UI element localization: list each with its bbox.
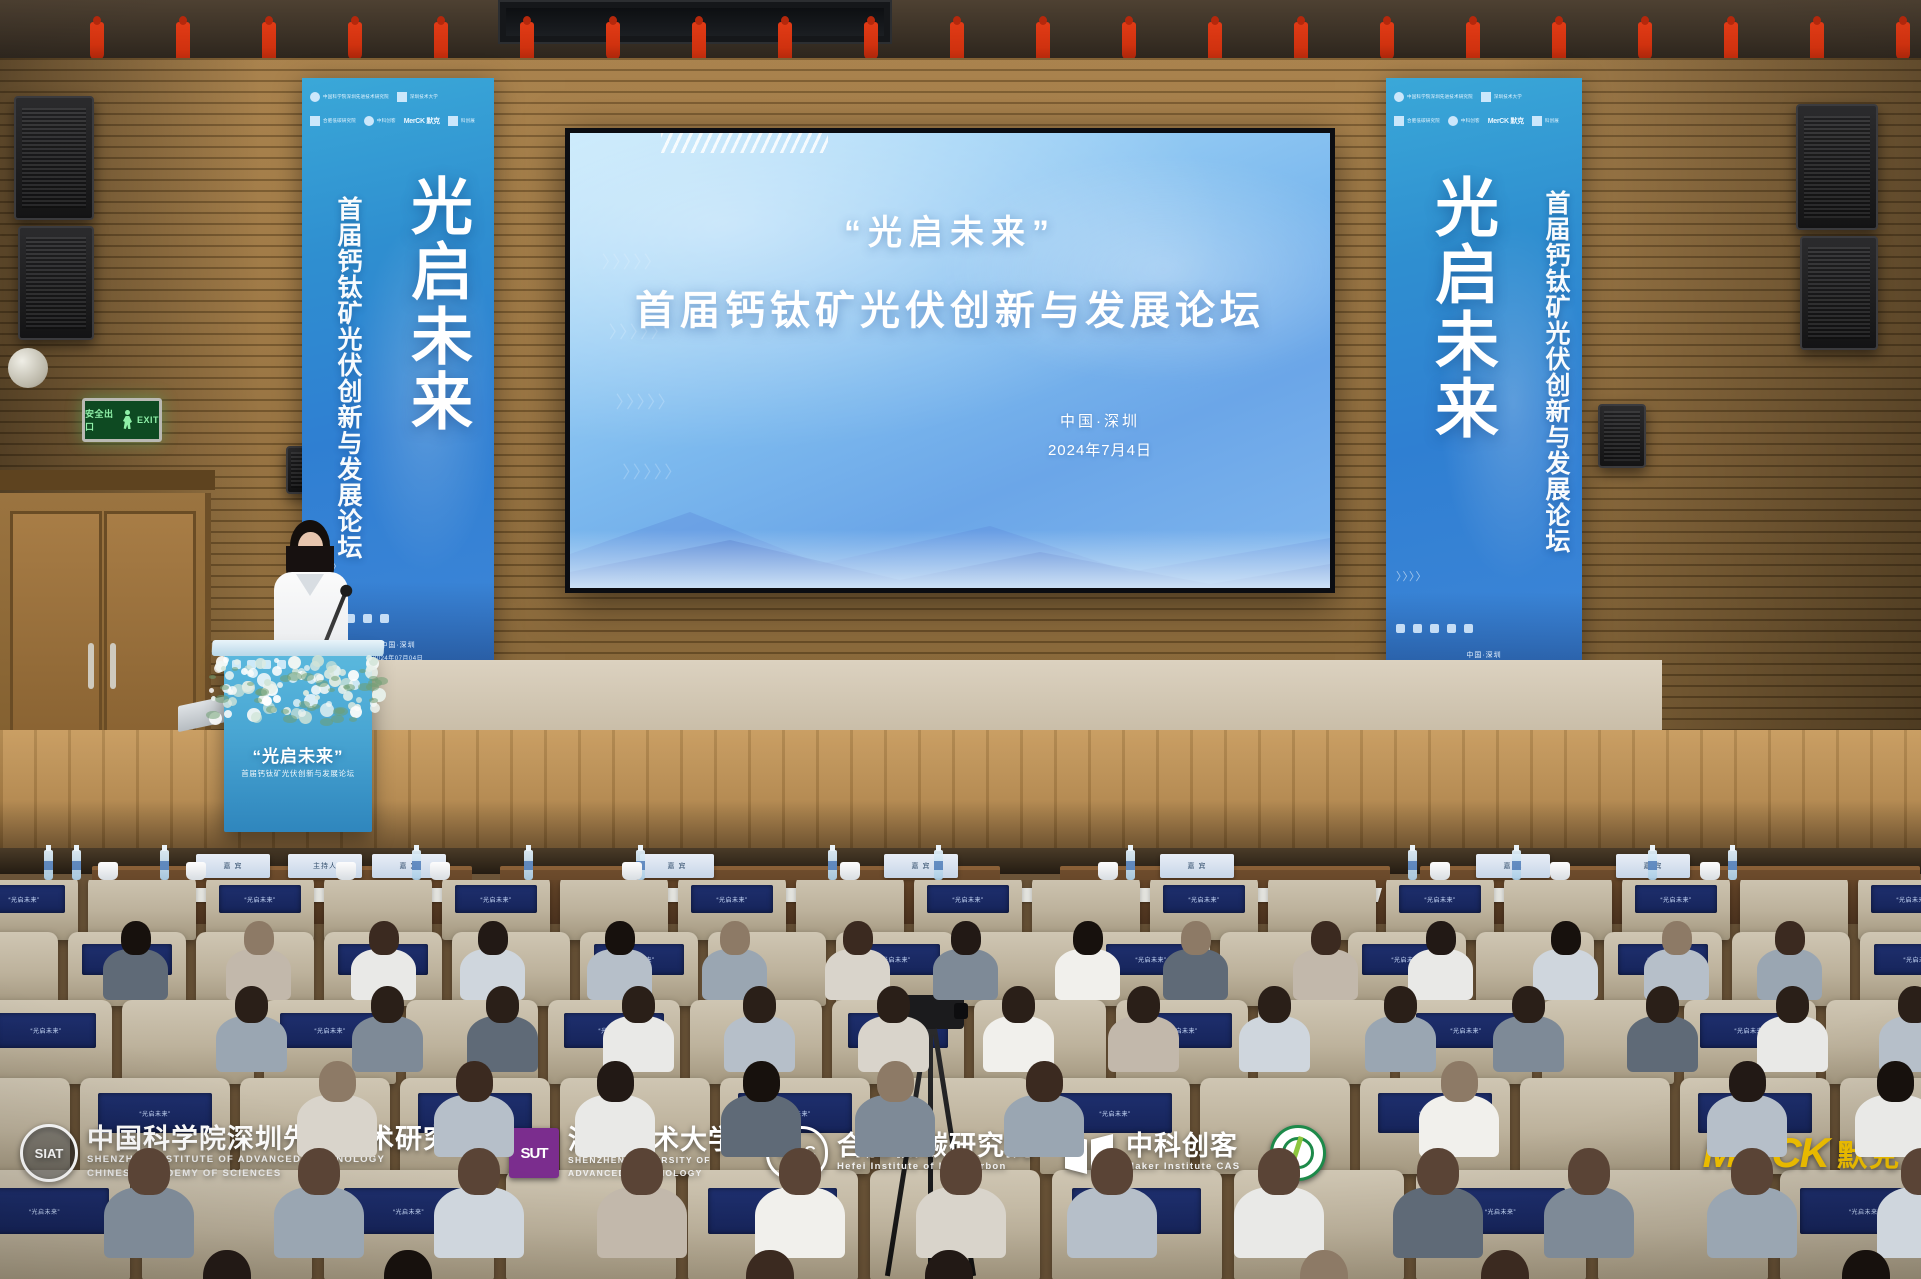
seat-back-card: “光启未来” [1874,944,1921,975]
led-screen-bezel: 〉〉〉〉〉〉〉〉〉〉〉〉〉〉〉〉〉〉〉〉 “光启未来” 首届钙钛矿光伏创新与发展… [565,128,1335,593]
audience-shoulders [274,1187,364,1258]
door-handle-left[interactable] [88,643,94,689]
water-bottle [412,850,421,880]
flower [339,669,346,676]
audience-head [128,1148,170,1195]
name-placard-label: 主持人 [313,861,337,871]
audience-shoulders [1163,949,1228,1000]
audience-head [244,921,274,955]
flower [356,697,362,703]
audience-head [319,1061,356,1102]
seat-back-card-title: “光启未来” [393,1207,424,1216]
screen-date: 2024年7月4日 [1048,439,1152,460]
screen-bottom-fade [570,530,1330,588]
audience-head [720,921,750,955]
audience-shoulders [1004,1095,1084,1157]
banner-left-headline: 光启未来 [390,174,480,434]
audience-head [622,986,655,1023]
merck-logo-mini-right: MerCK 默克 [1488,115,1524,126]
seat-back-card-title: “光启未来” [1451,1026,1482,1035]
screen-location: 中国·深圳 [1048,410,1152,431]
audience-shoulders [1707,1187,1797,1258]
seat-back-card-title: “光启未来” [1189,895,1220,904]
greenery [331,715,344,723]
ceiling-tassel [1638,22,1652,60]
name-placard-label: 嘉 宾 [1188,861,1207,871]
audience-head [951,921,981,955]
seat-back-card-title: “光启未来” [1849,1207,1880,1216]
flower [288,656,301,669]
water-bottle [934,850,943,880]
flower [370,703,380,713]
flower [274,658,279,663]
podium-flower-arrangement [205,640,381,720]
stage-monitor-right [1598,404,1646,468]
banner-right-subtitle: 首届钙钛矿光伏创新与发展论坛 [1538,190,1574,554]
audience-head [1417,1148,1459,1195]
flower [234,659,240,665]
led-screen: 〉〉〉〉〉〉〉〉〉〉〉〉〉〉〉〉〉〉〉〉 “光启未来” 首届钙钛矿光伏创新与发展… [570,133,1330,588]
seat-back-card: “光启未来” [1399,885,1481,913]
tea-cup [1098,862,1118,880]
siat-logo-mini-right: 中国科学院深圳先进技术研究院 [1394,92,1473,103]
audience-shoulders [352,1016,423,1072]
audience-head [486,986,519,1023]
kechuang-logo-mini-right: 科创展 [1532,115,1559,126]
flower [247,670,254,677]
audience-head [1258,1148,1300,1195]
greenery [366,683,379,691]
ceiling-round-speaker [8,348,48,388]
ceiling-tassel [348,22,362,60]
seat-back-card-title: “光启未来” [31,1026,62,1035]
audience-head [1073,921,1103,955]
seat-back-card-title: “光启未来” [245,895,276,904]
water-bottle [1648,850,1657,880]
audience-head [1775,921,1805,955]
seat-back-card-title: “光启未来” [140,1109,171,1118]
audience-head [605,921,635,955]
greenery [328,688,335,692]
audience-head [1551,921,1581,955]
audience-head [1091,1148,1133,1195]
audience-head [621,1148,663,1195]
greenery [266,706,277,713]
seat-back-card-title: “光启未来” [1100,1109,1131,1118]
audience-head [298,1148,340,1195]
sut-logo-mini: 深圳技术大学 [397,92,438,103]
ceiling-tassel [864,22,878,60]
audience-shoulders [1408,949,1473,1000]
siat-logo-mini: 中国科学院深圳先进技术研究院 [310,92,389,103]
audience-head [843,921,873,955]
audience-head [877,986,910,1023]
audience-head [743,986,776,1023]
flower [255,658,266,669]
banner-right: 中国科学院深圳先进技术研究院 深圳技术大学 合肥低碳研究院 中科创客 MerCK… [1386,78,1582,688]
flower [320,703,334,717]
audience-shoulders [1067,1187,1157,1258]
name-placard-label: 嘉 宾 [224,861,243,871]
kechuang-logo-mini: 科创展 [448,115,475,126]
flower [277,682,283,688]
exit-sign-label-cn: 安全出口 [85,407,118,433]
door-handle-right[interactable] [110,643,116,689]
audience-shoulders [1493,1016,1564,1072]
audience-head [371,986,404,1023]
hefei-logo-mini: 合肥低碳研究院 [310,115,356,126]
tea-cup [1430,862,1450,880]
flower [209,688,214,693]
audience-shoulders [1055,949,1120,1000]
banner-right-footer-logos [1396,622,1572,634]
seat-back-card: “光启未来” [98,1093,212,1133]
tea-cup [622,862,642,880]
tea-cup [1700,862,1720,880]
water-bottle [828,850,837,880]
flower [273,695,281,703]
audience-head [779,1148,821,1195]
conference-hall-photo: 安全出口 EXIT 〉〉〉〉〉〉〉〉〉〉〉〉〉〉〉〉〉〉〉〉 “光启未来” 首届… [0,0,1921,1279]
audience-shoulders [721,1095,801,1157]
screen-location-block: 中国·深圳 2024年7月4日 [1048,410,1152,460]
audience-head [1877,1061,1914,1102]
tea-cup [336,862,356,880]
flower [251,712,262,723]
wall-speaker-right-top [1796,104,1878,230]
audience-head [1384,986,1417,1023]
greenery [232,667,238,671]
flower [272,666,282,676]
flower [366,655,372,661]
audience-head [877,1061,914,1102]
banner-right-logo-row: 中国科学院深圳先进技术研究院 深圳技术大学 合肥低碳研究院 中科创客 MerCK… [1394,88,1574,130]
audience-shoulders [1234,1187,1324,1258]
flower [312,655,324,667]
greenery [344,684,355,691]
audience-shoulders [1108,1016,1179,1072]
audience-shoulders [1239,1016,1310,1072]
screen-title-main: 首届钙钛矿光伏创新与发展论坛 [635,278,1265,336]
wall-speaker-right-bottom [1800,236,1878,350]
audience-head [1441,1061,1478,1102]
door-header [0,470,215,490]
seat-back-card: “光启未来” [1871,885,1921,913]
tea-cup [98,862,118,880]
name-placard-label: 嘉 宾 [668,861,687,871]
audience-head [458,1148,500,1195]
flower [262,696,272,706]
seat-back-card-title: “光启未来” [1897,895,1921,904]
audience-head [235,986,268,1023]
audience-shoulders [1544,1187,1634,1258]
ceiling-tassel [1896,22,1910,60]
audience-head [1002,986,1035,1023]
screen-title-quoted: “光启未来” [844,205,1056,254]
water-bottle [1408,850,1417,880]
audience-shoulders [1365,1016,1436,1072]
audience-shoulders [216,1016,287,1072]
seat-back-card-title: “光启未来” [1661,895,1692,904]
flower [228,686,237,695]
seat-back-card-title: “光启未来” [315,1026,346,1035]
name-placard-label: 嘉 宾 [912,861,931,871]
audience-shoulders [855,1095,935,1157]
wall-speaker-left-bottom [18,226,94,340]
merck-logo-mini: MerCK 默克 [404,115,440,126]
audience-shoulders [1627,1016,1698,1072]
water-bottle [160,850,169,880]
seat-back-card: “光启未来” [927,885,1009,913]
audience-head [1311,921,1341,955]
hefei-logo-mini-right: 合肥低碳研究院 [1394,115,1440,126]
greenery [281,709,289,714]
banner-left-subtitle: 首届钙钛矿光伏创新与发展论坛 [330,196,366,560]
banner-right-headline: 光启未来 [1416,174,1508,442]
water-bottle [1512,850,1521,880]
seat-back-card-title: “光启未来” [953,895,984,904]
flower [298,709,306,717]
maker-logo-mini: 中科创客 [364,115,396,126]
greenery [256,688,269,696]
name-placard: 嘉 宾 [884,854,958,878]
water-bottle [44,850,53,880]
running-man-icon [121,410,134,430]
seat-back-card-title: “光启未来” [1425,895,1456,904]
audience-head [743,1061,780,1102]
audience-shoulders [434,1187,524,1258]
audience-shoulders [1533,949,1598,1000]
flower [221,666,226,671]
seat-back-card: “光启未来” [219,885,301,913]
audience-shoulders [755,1187,845,1258]
water-bottle [1126,850,1135,880]
seat-back-card-title: “光启未来” [1904,955,1921,964]
exit-sign: 安全出口 EXIT [82,398,162,442]
audience-head [1662,921,1692,955]
tea-cup [430,862,450,880]
name-placard: 嘉 宾 [196,854,270,878]
greenery [280,675,291,682]
audience-shoulders [297,1095,377,1157]
flower [264,679,271,686]
ceiling-tassel [606,22,620,60]
audience-shoulders [1855,1095,1921,1157]
seat-back-card-title: “光启未来” [9,895,40,904]
banner-left-logo-row: 中国科学院深圳先进技术研究院 深圳技术大学 合肥低碳研究院 中科创客 MerCK… [310,88,486,130]
audience-head [940,1148,982,1195]
tea-cup [186,862,206,880]
maker-logo-mini-right: 中科创客 [1448,115,1480,126]
tea-cup [840,862,860,880]
audience-head [597,1061,634,1102]
audience-head [121,921,151,955]
greenery [299,701,310,708]
greenery [349,717,357,722]
audience-head [1127,986,1160,1023]
sut-logo-mini-right: 深圳技术大学 [1481,92,1522,103]
flower [224,710,232,718]
greenery [209,675,216,679]
banner-right-footer-location: 中国·深圳 [1386,650,1582,660]
flower [366,665,373,672]
flower [326,661,337,672]
podium-subtitle: 首届钙钛矿光伏创新与发展论坛 [224,768,372,779]
audience-shoulders [104,1187,194,1258]
flower [225,671,234,680]
audience-head [1026,1061,1063,1102]
podium-title: “光启未来” [224,742,372,767]
water-bottle [72,850,81,880]
water-bottle [524,850,533,880]
audience-head [1512,986,1545,1023]
seat-back-card-title: “光启未来” [1136,955,1167,964]
greenery [331,676,339,681]
screen-title-block: “光启未来” 首届钙钛矿光伏创新与发展论坛 [570,133,1330,588]
water-bottle [1728,850,1737,880]
audience-head [1646,986,1679,1023]
audience-shoulders [597,1187,687,1258]
audience-head [369,921,399,955]
audience-shoulders [1757,1016,1828,1072]
wall-speaker-left-top [14,96,94,220]
banner-right-arrows: 〉〉〉〉 [1396,568,1428,584]
seat-back-card: “光启未来” [1163,885,1245,913]
flower [223,657,229,663]
seat-back-card-title: “光启未来” [481,895,512,904]
seat-back-card-title: “光启未来” [717,895,748,904]
audience-head [21,1061,58,1102]
tea-cup [1550,862,1570,880]
audience-shoulders [1293,949,1358,1000]
audience-head [1898,986,1921,1023]
audience-head [1426,921,1456,955]
seat-back-card: “光启未来” [1635,885,1717,913]
audience-head [1568,1148,1610,1195]
audience-head [1181,921,1211,955]
audience-head [1729,1061,1766,1102]
seat-back-card: “光启未来” [691,885,773,913]
audience-shoulders [1393,1187,1483,1258]
seat-back-card-title: “光启未来” [1485,1207,1516,1216]
audience-shoulders [0,1095,79,1157]
flower [315,695,320,700]
audience-shoulders [1877,1187,1921,1258]
audience-shoulders [916,1187,1006,1258]
ceiling-tassel [90,22,104,60]
camera-lens-icon [954,1003,968,1019]
greenery [254,698,262,703]
exit-sign-label-en: EXIT [137,415,159,425]
name-placard: 嘉 宾 [640,854,714,878]
audience-head [1731,1148,1773,1195]
audience-head [478,921,508,955]
audience-shoulders [103,949,168,1000]
audience-head [456,1061,493,1102]
ceiling-tassel [1380,22,1394,60]
ceiling-tassel [1122,22,1136,60]
name-placard: 嘉 宾 [1160,854,1234,878]
greenery [301,673,314,681]
audience-head [1776,986,1809,1023]
audience-head [1258,986,1291,1023]
seat-back-card: “光启未来” [455,885,537,913]
audience-shoulders [1419,1095,1499,1157]
seat-back-card: “光启未来” [0,885,65,913]
audience-shoulders [933,949,998,1000]
